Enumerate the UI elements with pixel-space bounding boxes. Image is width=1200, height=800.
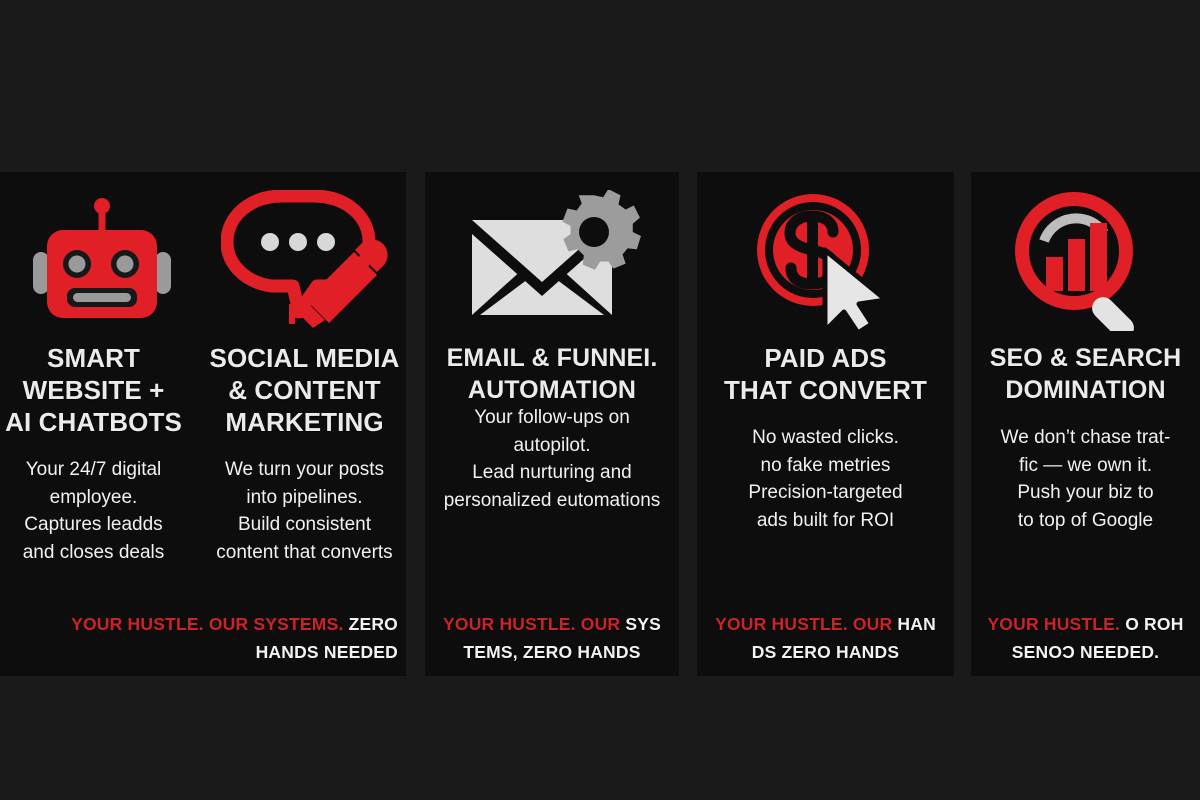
description-line: Your 24/7 digital — [23, 456, 165, 484]
card-title: EMAIL & FUNNEI. AUTOMATION — [447, 342, 658, 406]
card-title: PAID ADS THAT CONVERT — [724, 342, 927, 406]
description-line: no fake metries — [748, 452, 902, 480]
title-line: AI CHATBOTS — [5, 406, 182, 438]
card-description: No wasted clicks. no fake metries Precis… — [748, 424, 902, 534]
tagline-highlight: YOUR HUSTLE. OUR — [443, 614, 620, 634]
card-tagline: YOUR HUSTLE. OUR HAN DS ZERO HANDS — [697, 610, 954, 666]
title-line: SEO & SEARCH — [990, 342, 1182, 374]
card-paid-ads-that-convert[interactable]: PAID ADS THAT CONVERT No wasted clicks. … — [697, 172, 954, 676]
tagline-rest: HAN — [897, 614, 936, 634]
description-line: Build consistent — [216, 511, 392, 539]
description-line: Push your biz to — [1001, 479, 1171, 507]
description-line: Captures leadds — [23, 511, 165, 539]
tagline-highlight: YOUR HUSTLE. OUR — [715, 614, 892, 634]
title-line: WEBSITE + — [5, 374, 182, 406]
card-smart-website-ai-chatbots[interactable]: SMART WEBSITE + AI CHATBOTS Your 24/7 di… — [0, 172, 203, 676]
tagline-line: SENOƆ NEEDED. — [971, 638, 1200, 666]
title-line: SOCIAL MEDIA — [210, 342, 400, 374]
tagline-rest: O ROH — [1125, 614, 1183, 634]
robot-icon — [0, 172, 203, 342]
description-line: We turn your posts — [216, 456, 392, 484]
card-tagline: YOUR HUSTLE. O ROH SENOƆ NEEDED. — [971, 610, 1200, 666]
card-tagline: YOUR HUSTLE. OUR SYSTEMS. ZERO HANDS NEE… — [0, 610, 406, 666]
description-line: personalized eutomations — [444, 487, 661, 515]
card-description: Your follow-ups on autopilot. Lead nurtu… — [444, 404, 661, 514]
tagline-highlight: YOUR HUSTLE. — [987, 614, 1120, 634]
description-line: autopilot. — [444, 432, 661, 460]
card-title: SOCIAL MEDIA & CONTENT MARKETING — [210, 342, 400, 438]
card-social-media-content-marketing[interactable]: SOCIAL MEDIA & CONTENT MARKETING We turn… — [203, 172, 406, 676]
title-line: MARKETING — [210, 406, 400, 438]
tagline-line: TEMS, ZERO HANDS — [425, 638, 679, 666]
tagline-rest: SYS — [625, 614, 661, 634]
card-email-funnel-automation[interactable]: EMAIL & FUNNEI. AUTOMATION Your follow-u… — [425, 172, 679, 676]
card-description: Your 24/7 digital employee. Captures lea… — [23, 456, 165, 566]
tagline-line: YOUR HUSTLE. OUR SYS — [425, 610, 679, 638]
card-seo-search-domination[interactable]: SEO & SEARCH DOMINATION We don’t chase t… — [971, 172, 1200, 676]
tagline-line: YOUR HUSTLE. OUR HAN — [697, 610, 954, 638]
description-line: fic — we own it. — [1001, 452, 1171, 480]
card-smart-website-and-social-media[interactable]: SMART WEBSITE + AI CHATBOTS Your 24/7 di… — [0, 172, 406, 676]
title-line: DOMINATION — [990, 374, 1182, 406]
services-cards-board: SMART WEBSITE + AI CHATBOTS Your 24/7 di… — [0, 0, 1200, 800]
title-line: THAT CONVERT — [724, 374, 927, 406]
title-line: AUTOMATION — [447, 374, 658, 406]
description-line: No wasted clicks. — [748, 424, 902, 452]
tagline-line: DS ZERO HANDS — [697, 638, 954, 666]
title-line: & CONTENT — [210, 374, 400, 406]
magnifier-bar-chart-icon — [971, 172, 1200, 342]
description-line: to top of Google — [1001, 507, 1171, 535]
card-title: SMART WEBSITE + AI CHATBOTS — [5, 342, 182, 438]
description-line: We don’t chase trat- — [1001, 424, 1171, 452]
description-line: into pipelines. — [216, 484, 392, 512]
card-tagline: YOUR HUSTLE. OUR SYS TEMS, ZERO HANDS — [425, 610, 679, 666]
title-line: PAID ADS — [724, 342, 927, 374]
speech-bubble-pencil-icon — [203, 172, 406, 342]
tagline-line: YOUR HUSTLE. OUR SYSTEMS. ZERO — [0, 610, 398, 638]
description-line: Precision-targeted — [748, 479, 902, 507]
description-line: and closes deals — [23, 539, 165, 567]
description-line: employee. — [23, 484, 165, 512]
tagline-line: YOUR HUSTLE. O ROH — [971, 610, 1200, 638]
tagline-highlight: YOUR HUSTLE. OUR SYSTEMS. — [71, 614, 343, 634]
description-line: ads built for ROI — [748, 507, 902, 535]
description-line: content that converts — [216, 539, 392, 567]
card-title: SEO & SEARCH DOMINATION — [990, 342, 1182, 406]
description-line: Lead nurturing and — [444, 459, 661, 487]
card-description: We don’t chase trat- fic — we own it. Pu… — [1001, 424, 1171, 534]
tagline-rest: ZERO — [349, 614, 398, 634]
envelope-gear-icon — [425, 172, 679, 342]
coin-cursor-icon — [697, 172, 954, 342]
description-line: Your follow-ups on — [444, 404, 661, 432]
title-line: EMAIL & FUNNEI. — [447, 342, 658, 374]
card-description: We turn your posts into pipelines. Build… — [216, 456, 392, 566]
tagline-line: HANDS NEEDED — [0, 638, 398, 666]
title-line: SMART — [5, 342, 182, 374]
